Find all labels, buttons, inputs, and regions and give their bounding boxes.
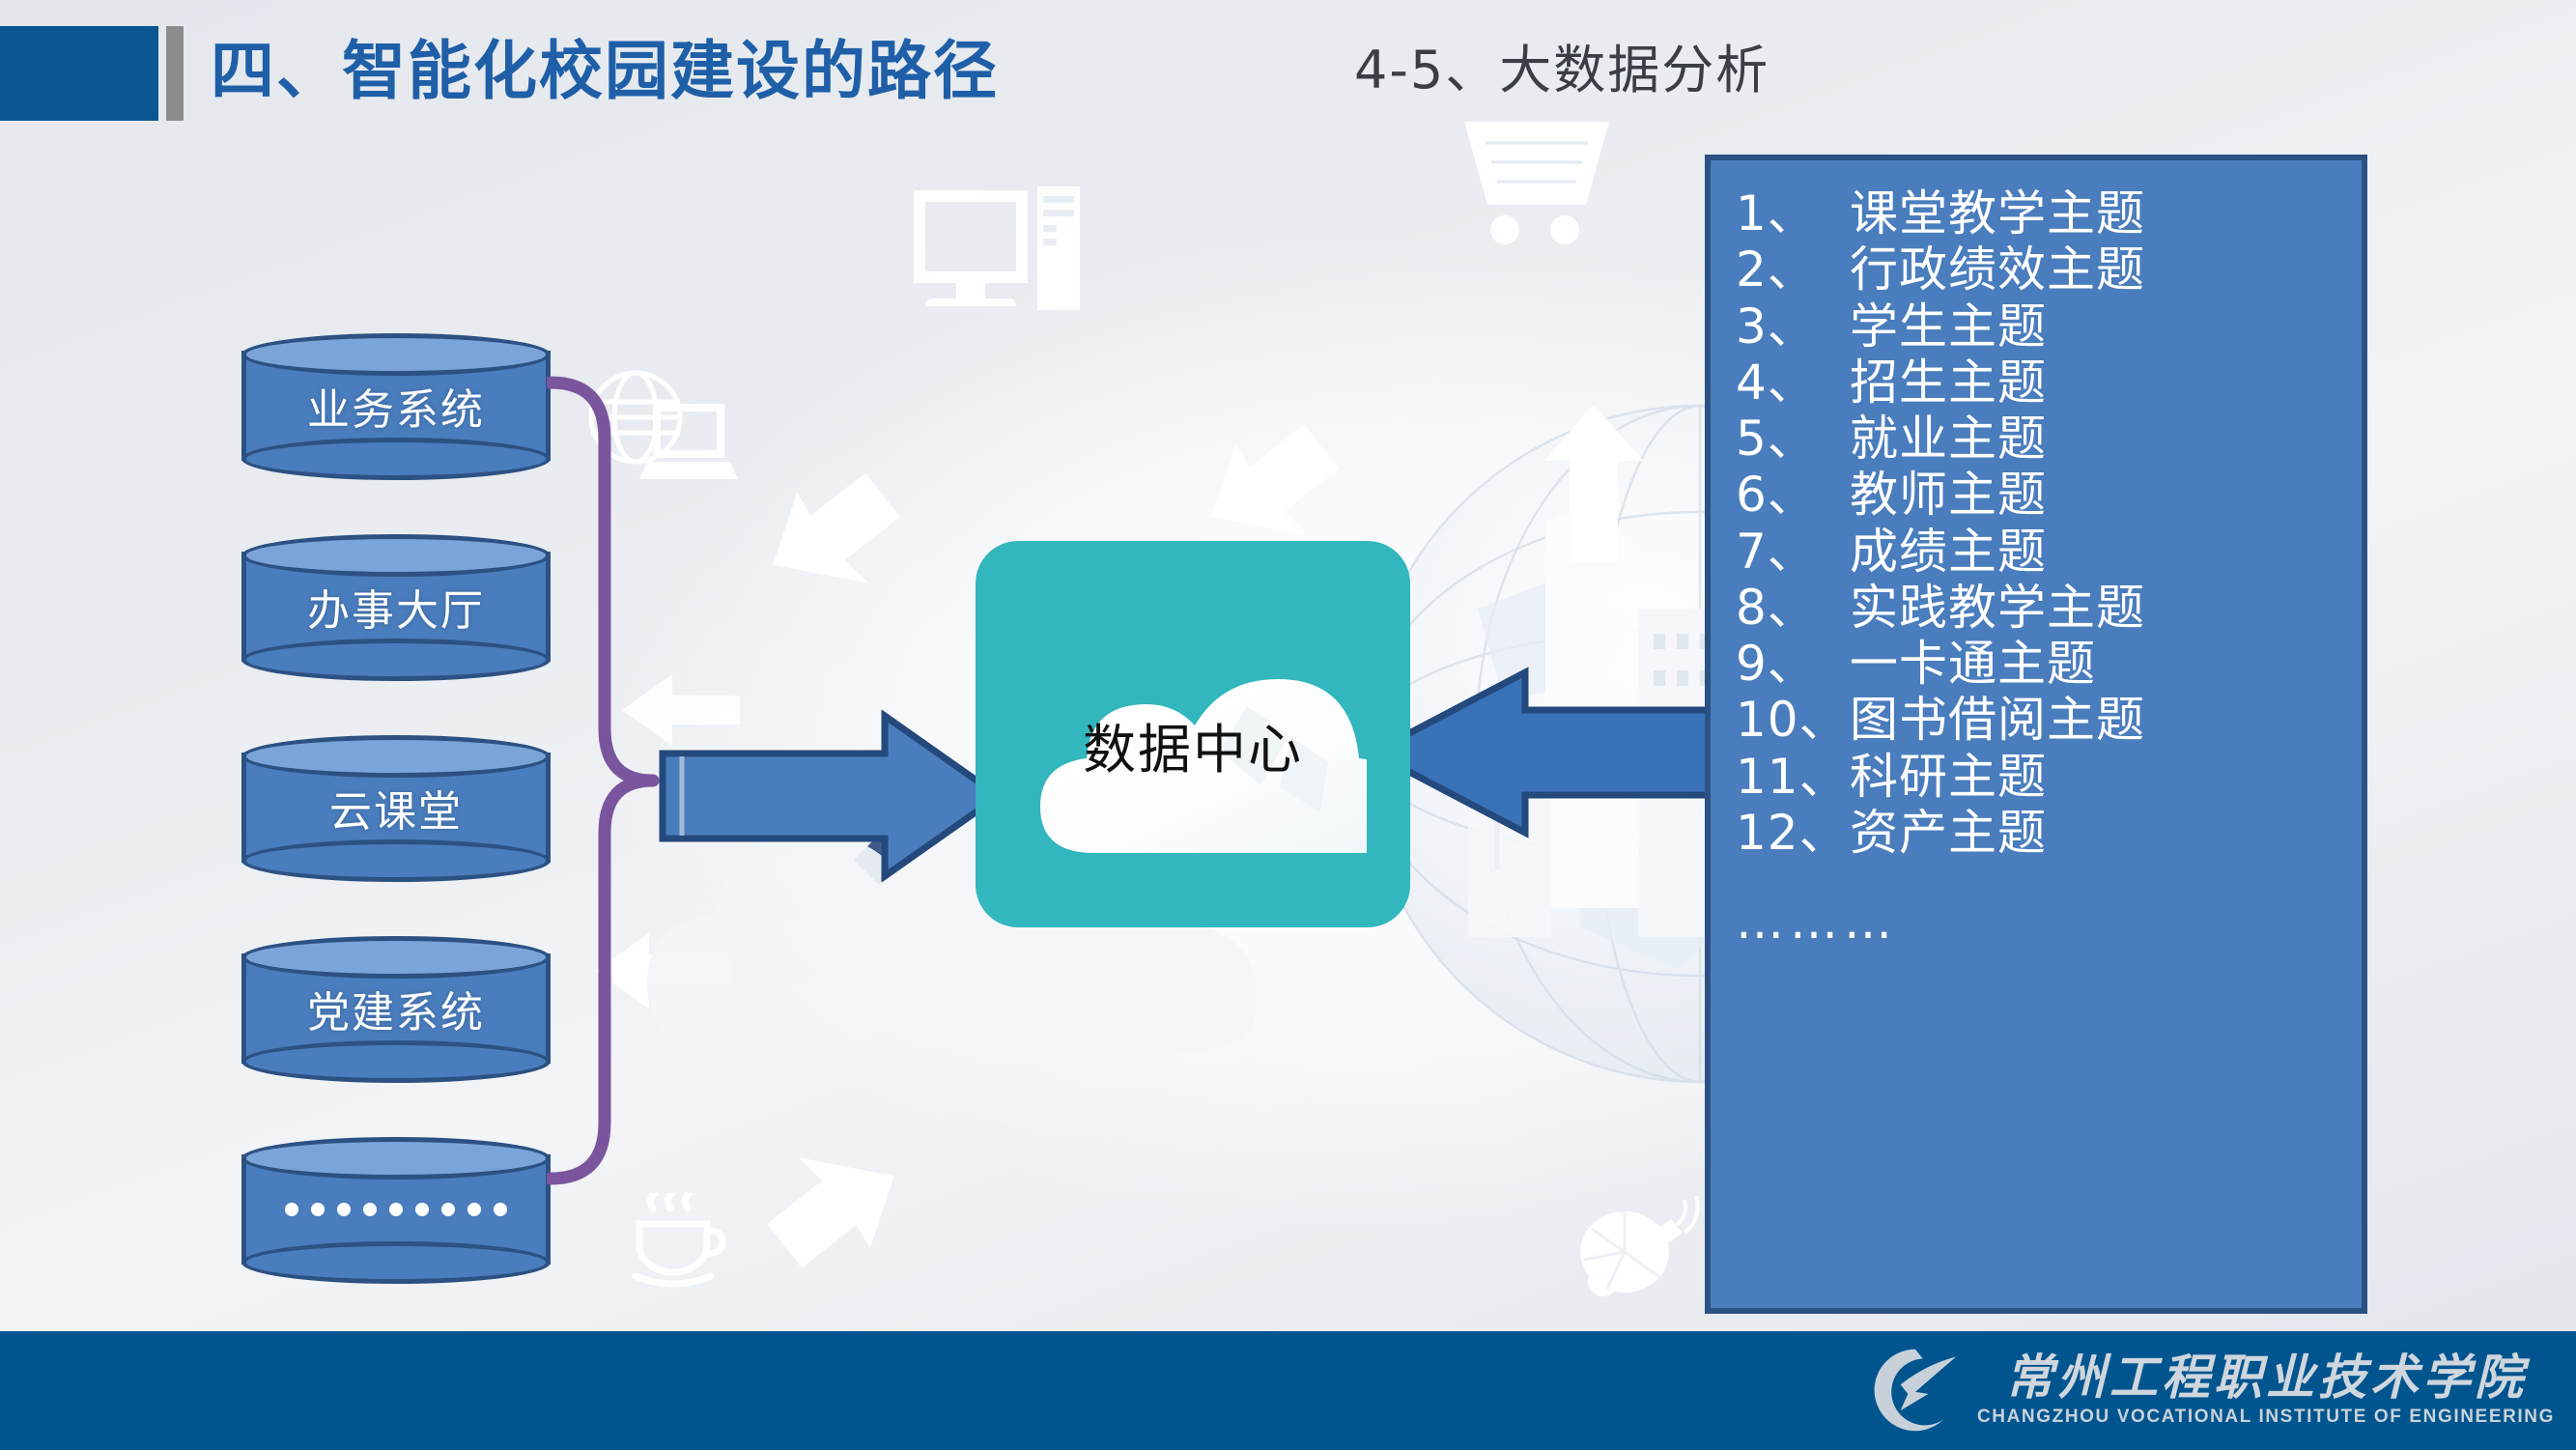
topic-label: 招生主题 bbox=[1850, 355, 2047, 411]
topic-label: 学生主题 bbox=[1850, 299, 2047, 355]
diagonal-arrow-background-icon-2 bbox=[763, 473, 908, 609]
topic-label: 就业主题 bbox=[1850, 411, 2047, 467]
topic-number: 9、 bbox=[1736, 636, 1850, 692]
logo-name-en: CHANGZHOU VOCATIONAL INSTITUTE OF ENGINE… bbox=[1977, 1407, 2555, 1428]
topic-list-item[interactable]: 1、 课堂教学主题 bbox=[1736, 185, 2362, 242]
source-cylinder-ellipsis bbox=[241, 1137, 551, 1282]
footer-bar: 常州工程职业技术学院 CHANGZHOU VOCATIONAL INSTITUT… bbox=[0, 1331, 2576, 1450]
topic-list-item[interactable]: 3、 学生主题 bbox=[1736, 299, 2362, 355]
coffee-cup-background-icon bbox=[626, 1193, 742, 1299]
topics-panel: 1、 课堂教学主题 2、 行政绩效主题 3、 学生主题 4、 招生主题 5、 就… bbox=[1705, 155, 2367, 1314]
source-cylinder-4[interactable]: 党建系统 bbox=[241, 936, 551, 1081]
source-cylinder-1[interactable]: 业务系统 bbox=[241, 333, 551, 478]
purple-brace-connector bbox=[547, 375, 672, 1186]
topic-label: 科研主题 bbox=[1850, 749, 2047, 805]
institution-logo: 常州工程职业技术学院 CHANGZHOU VOCATIONAL INSTITUT… bbox=[1869, 1344, 2555, 1436]
topic-list-item[interactable]: 4、 招生主题 bbox=[1736, 355, 2362, 411]
logo-name-cn: 常州工程职业技术学院 bbox=[2005, 1352, 2527, 1404]
topic-number: 4、 bbox=[1736, 355, 1850, 411]
data-center-label: 数据中心 bbox=[976, 541, 1410, 927]
topic-list-item[interactable]: 6、 教师主题 bbox=[1736, 467, 2362, 523]
topic-list-item[interactable]: 5、 就业主题 bbox=[1736, 411, 2362, 467]
topic-number: 1、 bbox=[1736, 185, 1850, 242]
diagonal-arrow-background-icon-3 bbox=[763, 1140, 908, 1275]
page-title: 四、智能化校园建设的路径 bbox=[211, 19, 999, 112]
slide-root: 互 四、智能化校园建设的路径 4-5、大数据分析 业务系统 办事大厅 云课堂 党 bbox=[0, 0, 2576, 1450]
topic-list-item[interactable]: 10、 图书借阅主题 bbox=[1736, 692, 2362, 748]
topic-number: 2、 bbox=[1736, 242, 1850, 298]
topic-label: 图书借阅主题 bbox=[1850, 692, 2145, 748]
topic-label: 实践教学主题 bbox=[1850, 580, 2145, 636]
shopping-cart-background-icon bbox=[1458, 116, 1613, 251]
source-cylinder-label: 办事大厅 bbox=[241, 534, 551, 679]
topic-number: 8、 bbox=[1736, 580, 1850, 636]
source-cylinder-3[interactable]: 云课堂 bbox=[241, 735, 551, 880]
topic-label: 成绩主题 bbox=[1850, 524, 2047, 580]
topic-list-item[interactable]: 8、 实践教学主题 bbox=[1736, 580, 2362, 636]
diagonal-arrow-background-icon-1 bbox=[1202, 425, 1346, 560]
topic-number: 3、 bbox=[1736, 299, 1850, 355]
topic-number: 10、 bbox=[1736, 692, 1850, 748]
topic-number: 12、 bbox=[1736, 805, 1850, 861]
header-accent-bar bbox=[166, 26, 184, 121]
flow-arrow-left bbox=[1367, 667, 1753, 839]
topic-label: 资产主题 bbox=[1850, 805, 2047, 861]
topic-list-item[interactable]: 12、 资产主题 bbox=[1736, 805, 2362, 861]
source-cylinder-5[interactable] bbox=[241, 1137, 551, 1282]
flow-arrow-right bbox=[657, 710, 1005, 882]
topic-number: 7、 bbox=[1736, 524, 1850, 580]
source-cylinder-label: 云课堂 bbox=[241, 735, 551, 880]
topic-list-item[interactable]: 11、 科研主题 bbox=[1736, 749, 2362, 805]
source-cylinder-label: 党建系统 bbox=[241, 936, 551, 1081]
satellite-dish-background-icon bbox=[1574, 1188, 1710, 1304]
topic-list-item[interactable]: 2、 行政绩效主题 bbox=[1736, 242, 2362, 298]
topic-label: 课堂教学主题 bbox=[1850, 185, 2145, 242]
topic-label: 教师主题 bbox=[1850, 467, 2047, 523]
topic-number: 5、 bbox=[1736, 411, 1850, 467]
topic-label: 行政绩效主题 bbox=[1850, 242, 2145, 298]
source-cylinder-2[interactable]: 办事大厅 bbox=[241, 534, 551, 679]
topic-list-item[interactable]: 9、 一卡通主题 bbox=[1736, 636, 2362, 692]
logo-mark-icon bbox=[1869, 1344, 1962, 1436]
desktop-computer-background-icon bbox=[908, 179, 1091, 343]
topics-panel-ellipsis: ……… bbox=[1736, 894, 2362, 950]
logo-text-block: 常州工程职业技术学院 CHANGZHOU VOCATIONAL INSTITUT… bbox=[1977, 1352, 2555, 1429]
page-subtitle: 4-5、大数据分析 bbox=[1354, 27, 1769, 103]
header-accent-block bbox=[0, 26, 158, 121]
topic-number: 6、 bbox=[1736, 467, 1850, 523]
up-arrow-background-icon bbox=[1541, 401, 1647, 565]
source-cylinder-label: 业务系统 bbox=[241, 333, 551, 478]
topic-number: 11、 bbox=[1736, 749, 1850, 805]
data-center-card[interactable]: 数据中心 bbox=[976, 541, 1410, 927]
topic-list-item[interactable]: 7、 成绩主题 bbox=[1736, 524, 2362, 580]
topic-label: 一卡通主题 bbox=[1850, 636, 2096, 692]
